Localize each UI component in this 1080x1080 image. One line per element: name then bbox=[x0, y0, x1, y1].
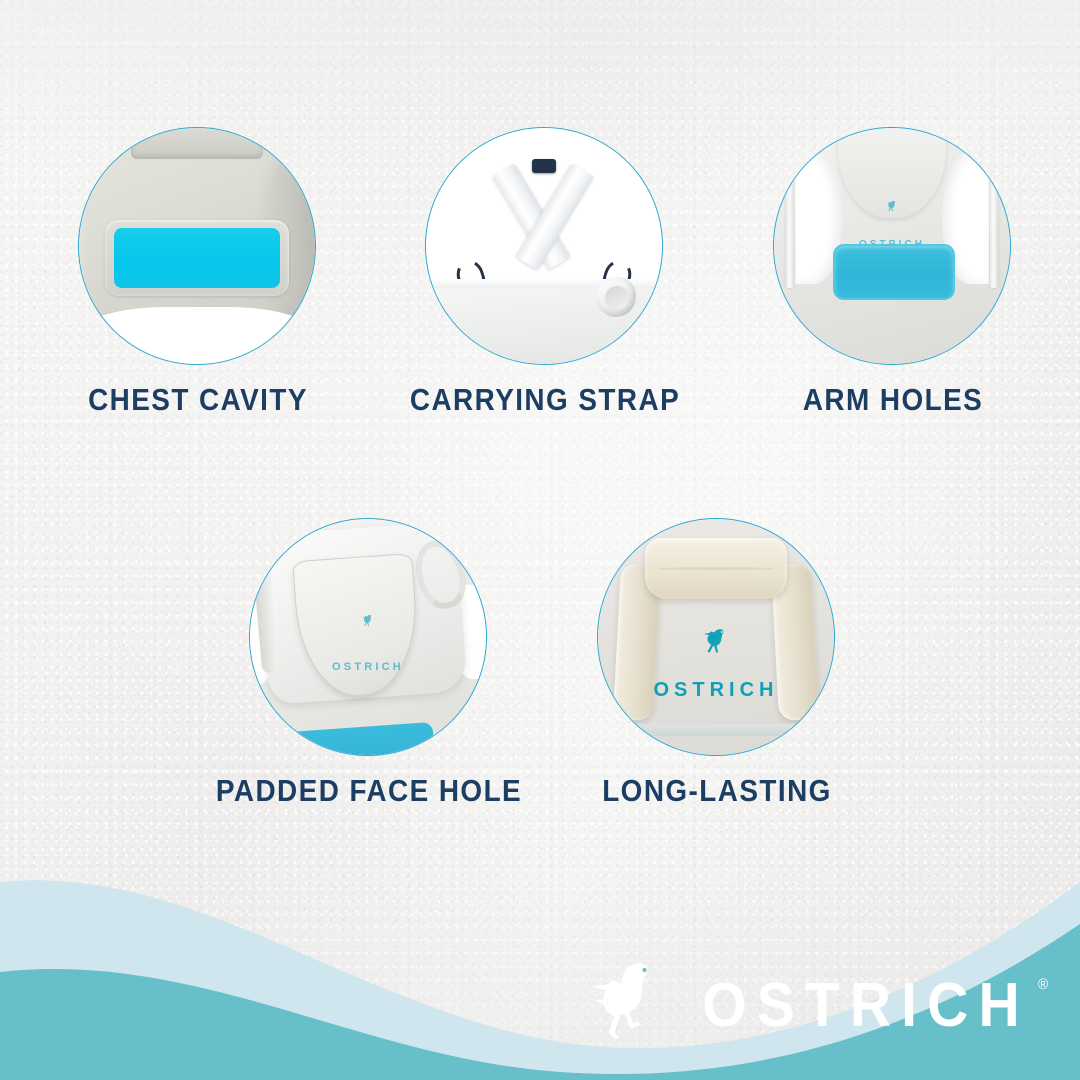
feature-photo-circle-long-lasting[interactable]: OSTRICH bbox=[597, 518, 835, 756]
feature-label-carrying-strap: CARRYING STRAP bbox=[401, 382, 689, 418]
frame-end-cap-hole bbox=[605, 286, 629, 310]
feature-photo-circle-padded-face-hole[interactable]: OSTRICH bbox=[249, 518, 487, 756]
feature-long-lasting[interactable]: OSTRICH LONG-LASTING bbox=[597, 518, 837, 818]
feature-padded-face-hole[interactable]: OSTRICH PADDED FACE HOLE bbox=[249, 518, 489, 818]
feature-photo-circle-arm-holes[interactable]: OSTRICH bbox=[773, 127, 1011, 365]
brand-name-text: OSTRICH bbox=[702, 971, 1030, 1040]
feature-photo-circle-chest-cavity[interactable]: OSTRICH bbox=[78, 127, 316, 365]
product-photo-chest-cavity: OSTRICH bbox=[79, 128, 315, 364]
ostrich-bird-icon bbox=[885, 199, 900, 214]
product-photo-long-lasting: OSTRICH bbox=[598, 519, 834, 755]
feature-photo-circle-carrying-strap[interactable] bbox=[425, 127, 663, 365]
feature-label-arm-holes: ARM HOLES bbox=[749, 382, 1037, 418]
feature-label-long-lasting: LONG-LASTING bbox=[564, 773, 870, 809]
base-logo-text: OSTRICH bbox=[598, 679, 834, 702]
strap-apex-buckle bbox=[532, 159, 556, 173]
ostrich-bird-icon bbox=[360, 613, 376, 629]
chest-gel-panel bbox=[114, 228, 280, 288]
feature-label-padded-face-hole: PADDED FACE HOLE bbox=[207, 773, 531, 809]
feature-label-chest-cavity: CHEST CAVITY bbox=[54, 382, 342, 418]
chest-panel-frame bbox=[105, 220, 289, 296]
ostrich-bird-icon bbox=[586, 958, 672, 1054]
arm-holes-gel-pad bbox=[833, 244, 955, 300]
product-photo-padded-face-hole: OSTRICH bbox=[250, 519, 486, 755]
lid-logo-text: OSTRICH bbox=[250, 661, 486, 673]
brand-logo: OSTRICH® bbox=[586, 958, 1044, 1054]
foam-padding-top bbox=[645, 538, 787, 599]
frame-bar-right bbox=[990, 142, 998, 288]
product-photo-arm-holes: OSTRICH bbox=[774, 128, 1010, 364]
feature-carrying-strap[interactable]: CARRYING STRAP bbox=[425, 127, 665, 427]
product-photo-carrying-strap bbox=[426, 128, 662, 364]
base-trim-strip bbox=[636, 724, 797, 736]
feature-chest-cavity[interactable]: OSTRICH CHEST CAVITY bbox=[78, 127, 318, 427]
frame-bar-left bbox=[786, 142, 794, 288]
ostrich-bird-icon bbox=[699, 625, 733, 659]
trademark-symbol: ® bbox=[1038, 977, 1048, 992]
brand-wordmark: OSTRICH® bbox=[702, 975, 1030, 1037]
vest-collar: OSTRICH bbox=[131, 128, 263, 159]
feature-arm-holes[interactable]: OSTRICH ARM HOLES bbox=[773, 127, 1013, 427]
photo-white-base bbox=[79, 307, 315, 364]
